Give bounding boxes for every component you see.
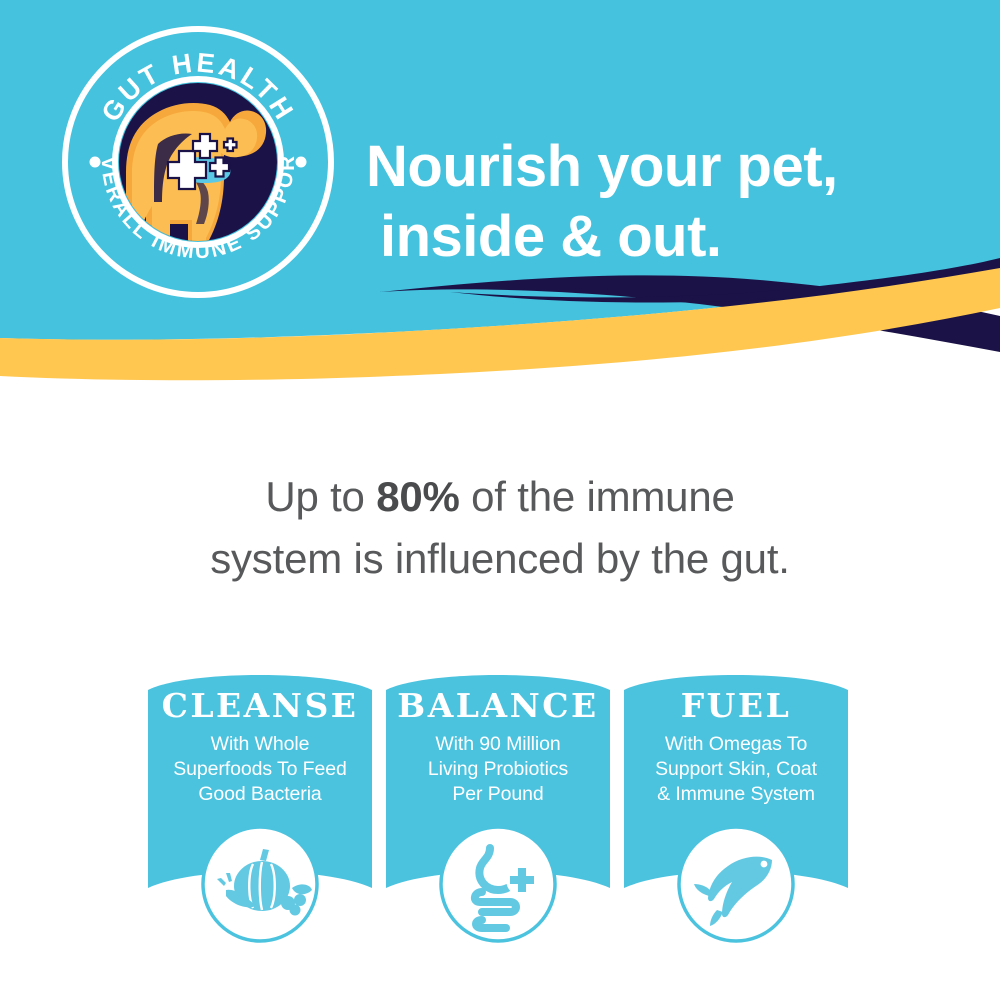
hero-headline: Nourish your pet, inside & out. (366, 62, 966, 342)
gut-health-badge: GUT HEALTH OVERALL IMMUNE SUPPORT (62, 26, 334, 298)
benefit-card-balance[interactable]: BALANCE With 90 Million Living Probiotic… (386, 666, 610, 966)
stat-statement: Up to 80% of the immune system is influe… (0, 466, 1000, 590)
fish-icon (676, 824, 796, 944)
infographic-canvas: GUT HEALTH OVERALL IMMUNE SUPPORT Nouris… (0, 0, 1000, 1000)
hero-banner: GUT HEALTH OVERALL IMMUNE SUPPORT Nouris… (0, 0, 1000, 420)
stomach-intestine-plus-icon-svg (438, 824, 558, 944)
stat-suffix: of the immune (460, 473, 735, 520)
stat-highlight: 80% (376, 473, 459, 520)
headline-line-2: inside & out. (366, 202, 966, 272)
fish-icon-svg (676, 824, 796, 944)
stat-line-2: system is influenced by the gut. (0, 528, 1000, 590)
stat-line-1: Up to 80% of the immune (0, 466, 1000, 528)
card-title: FUEL (624, 688, 848, 724)
card-subtitle: With Omegas To Support Skin, Coat & Immu… (630, 732, 842, 807)
stomach-intestine-plus-icon (438, 824, 558, 944)
pumpkin-carrot-berries-icon (200, 824, 320, 944)
pumpkin-carrot-berries-icon-svg (200, 824, 320, 944)
benefit-card-fuel[interactable]: FUEL With Omegas To Support Skin, Coat &… (624, 666, 848, 966)
badge-dot-left (90, 157, 101, 168)
medical-plus-icon (506, 864, 538, 896)
card-subtitle: With 90 Million Living Probiotics Per Po… (392, 732, 604, 807)
card-title: BALANCE (386, 688, 610, 724)
benefit-cards-row: CLEANSE With Whole Superfoods To Feed Go… (0, 666, 1000, 966)
stat-prefix: Up to (265, 473, 376, 520)
gut-health-badge-svg: GUT HEALTH OVERALL IMMUNE SUPPORT (62, 26, 334, 298)
badge-dot-right (296, 157, 307, 168)
headline-line-1: Nourish your pet, (366, 134, 838, 199)
card-subtitle: With Whole Superfoods To Feed Good Bacte… (154, 732, 366, 807)
card-title: CLEANSE (148, 688, 372, 724)
benefit-card-cleanse[interactable]: CLEANSE With Whole Superfoods To Feed Go… (148, 666, 372, 966)
